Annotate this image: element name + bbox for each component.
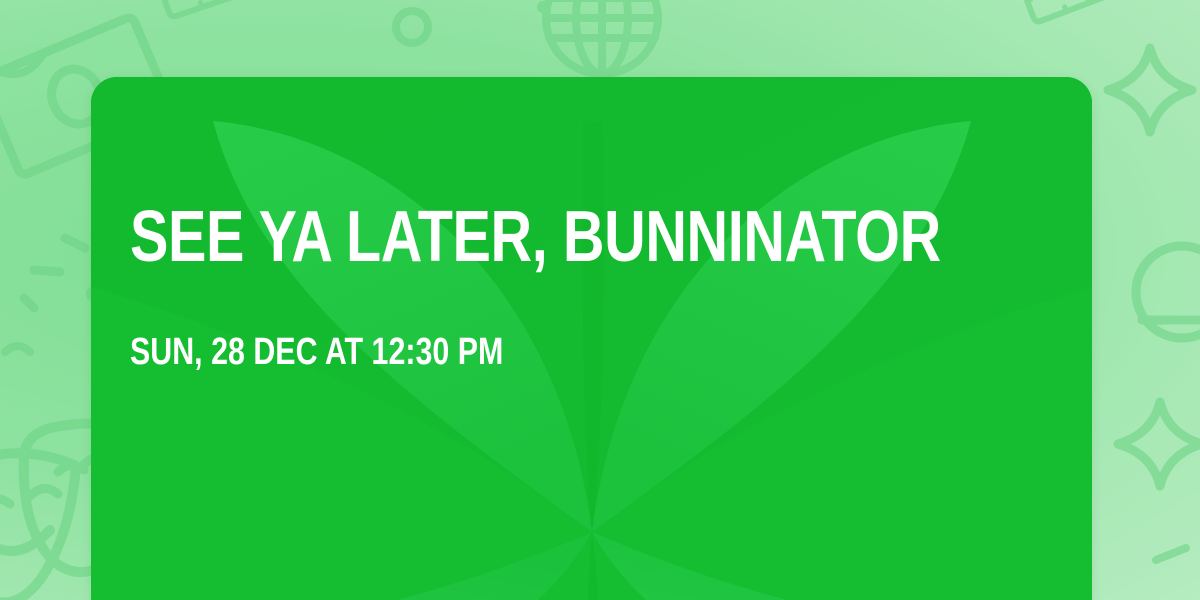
event-card-text-block: SEE YA LATER, BUNNINATOR SUN, 28 DEC AT …: [130, 207, 1050, 371]
microphone-icon: [1136, 246, 1200, 338]
event-card-stage: SEE YA LATER, BUNNINATOR SUN, 28 DEC AT …: [0, 0, 1200, 600]
dash-stroke-icon: [1156, 548, 1186, 560]
ticket-icon: [149, 0, 262, 18]
sparkle-icon: [1108, 48, 1192, 132]
ticket-icon: [1012, 0, 1127, 24]
confetti-icon: [5, 286, 102, 352]
dash-stroke-icon: [24, 238, 85, 308]
event-title: SEE YA LATER, BUNNINATOR: [130, 207, 866, 269]
globe-icon: [546, 0, 658, 74]
sparkle-icon: [1118, 402, 1200, 486]
event-card[interactable]: SEE YA LATER, BUNNINATOR SUN, 28 DEC AT …: [91, 77, 1092, 600]
event-datetime: SUN, 28 DEC AT 12:30 PM: [130, 333, 866, 371]
small-circle-icon: [396, 11, 428, 43]
